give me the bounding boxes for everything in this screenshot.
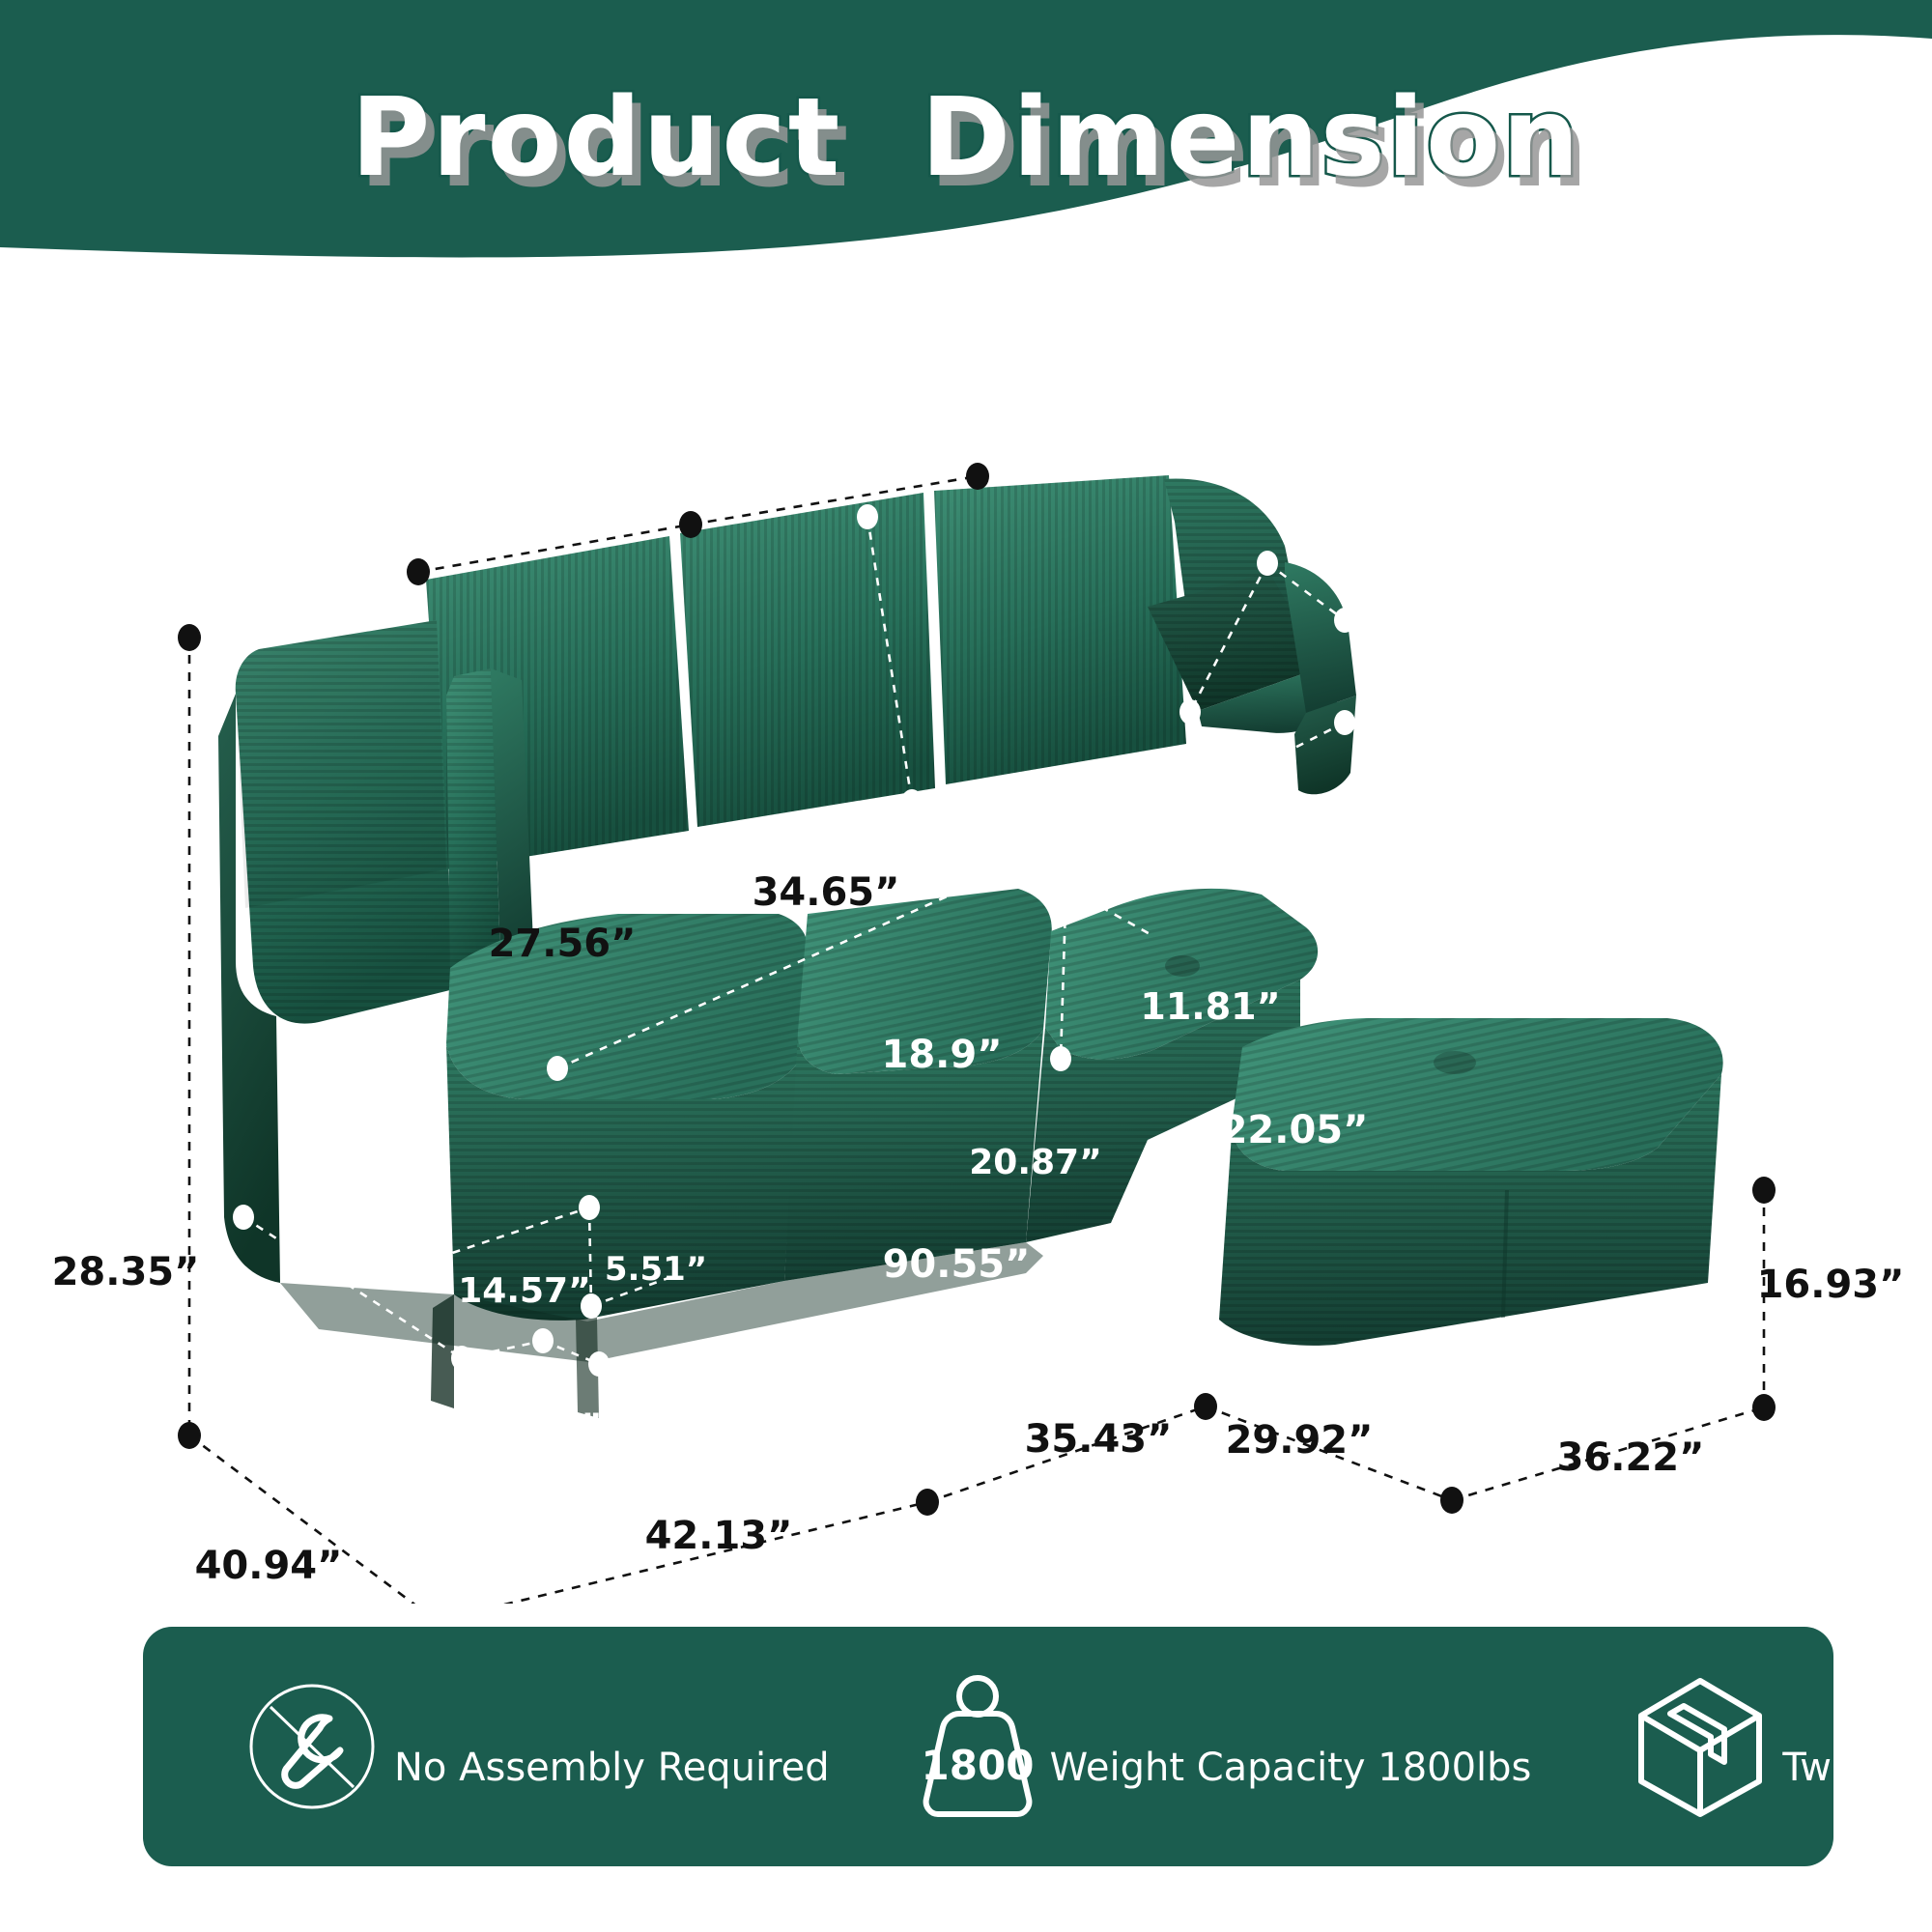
back-cushion-middle bbox=[680, 493, 935, 827]
dim-label-arm-width: 14.57” bbox=[458, 1271, 591, 1311]
no-assembly-icon bbox=[240, 1674, 384, 1819]
dim-label-backrest-left-top: 27.56” bbox=[489, 922, 637, 966]
feature-no-assembly: No Assembly Required bbox=[240, 1627, 830, 1866]
dim-label-overall-length: 90.55” bbox=[883, 1242, 1031, 1287]
weight-capacity-icon: 1800 bbox=[915, 1669, 1040, 1824]
dim-label-leg-gap: 5.9” bbox=[419, 1400, 499, 1438]
dim-label-backrest-right-top: 34.65” bbox=[753, 870, 900, 915]
header-banner: Product Dimension bbox=[0, 0, 1932, 290]
dim-label-base-depth-right: 42.13” bbox=[645, 1514, 793, 1558]
dim-label-base-depth-left: 40.94” bbox=[195, 1544, 343, 1588]
dim-label-seat-height: 16.93” bbox=[1066, 1284, 1214, 1328]
back-cushion-right bbox=[934, 475, 1186, 784]
feature-two-packages: Two Packages bbox=[1628, 1627, 1932, 1866]
dim-label-chaise-seat-depth: 22.05” bbox=[1221, 1108, 1369, 1152]
feature-bar: No Assembly Required 1800 Weight Capacit… bbox=[143, 1627, 1833, 1866]
dim-label-ottoman-height: 16.93” bbox=[1757, 1263, 1905, 1307]
package-box-icon bbox=[1628, 1669, 1773, 1824]
weight-badge-value: 1800 bbox=[921, 1742, 1034, 1789]
ottoman bbox=[1219, 1018, 1723, 1346]
dim-label-arm-height: 6.3” bbox=[310, 1141, 394, 1180]
product-dimension-infographic: Product Dimension bbox=[0, 0, 1932, 1932]
dim-label-backrest-height: 18.9” bbox=[882, 1033, 1003, 1077]
feature-weight-capacity: 1800 Weight Capacity 1800lbs bbox=[915, 1627, 1532, 1866]
dim-label-seat-depth: 20.87” bbox=[969, 1143, 1102, 1182]
dim-label-chaise-depth: 29.92” bbox=[1226, 1418, 1374, 1463]
dimension-diagram: 27.56” 34.65” 18.9” 11.81” 6.3” 22.05” 2… bbox=[0, 290, 1932, 1604]
dim-label-ottoman-length: 36.22” bbox=[1557, 1435, 1705, 1480]
feature-label-no-assembly: No Assembly Required bbox=[394, 1746, 830, 1790]
dim-label-sofa-depth-front: 35.43” bbox=[1025, 1417, 1173, 1462]
dim-label-lumbar-pillow-depth: 5.51” bbox=[605, 1250, 707, 1289]
dim-label-overall-height: 28.35” bbox=[52, 1250, 200, 1294]
page-title: Product Dimension bbox=[0, 75, 1932, 201]
feature-label-two-packages: Two Packages bbox=[1782, 1746, 1932, 1790]
dim-label-leg-height: 4.33” bbox=[499, 1406, 602, 1445]
dim-label-side-pillow-width: 11.81” bbox=[1140, 985, 1280, 1028]
feature-label-weight-capacity: Weight Capacity 1800lbs bbox=[1050, 1746, 1532, 1790]
dim-label-arm-depth: 35.43” bbox=[235, 1357, 368, 1397]
sofa-left-arm bbox=[236, 620, 454, 1024]
